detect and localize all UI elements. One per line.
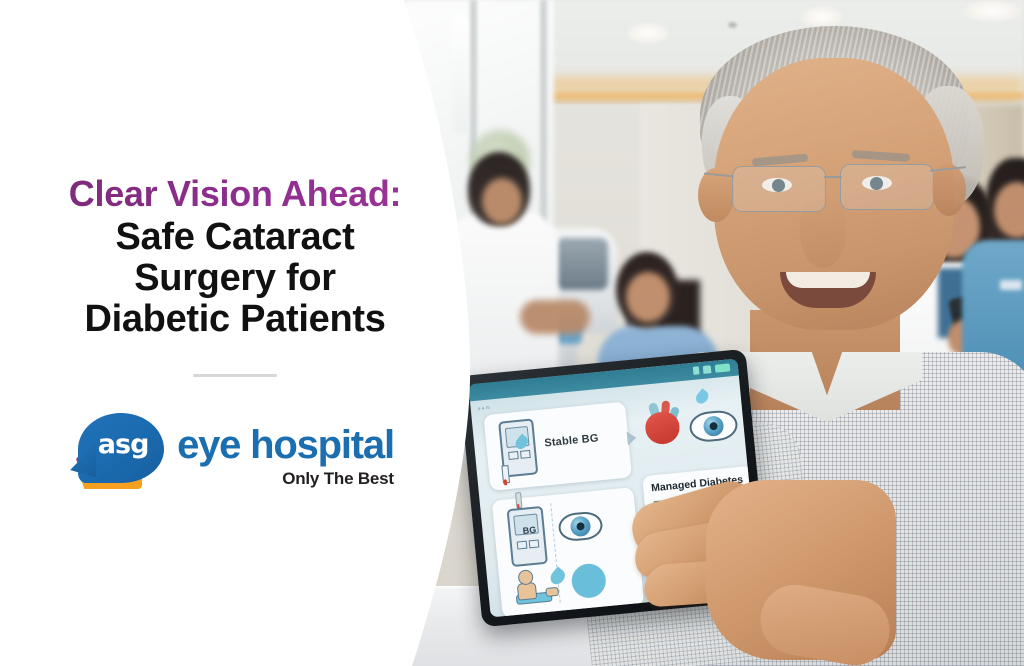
heart-icon [639, 400, 687, 450]
divider [193, 374, 277, 377]
logo-mark-text: asg [86, 429, 160, 460]
banner-root: a.a./b Stable BG [0, 0, 1024, 666]
glucometer-display [505, 426, 530, 448]
signal-icon [693, 366, 700, 375]
glucometer-button-right [529, 539, 540, 548]
patient-teeth [786, 272, 870, 288]
asg-eye-hospital-logo[interactable]: asg eye hospital Only The Best [76, 413, 394, 491]
tear-drop-icon [693, 388, 710, 406]
blood-sample-icon [504, 479, 508, 485]
text-content-area: Clear Vision Ahead: Safe Cataract Surger… [0, 0, 470, 666]
person-foot [545, 587, 559, 597]
page-title: Clear Vision Ahead: Safe Cataract Surger… [25, 175, 445, 341]
headline-line-3: Surgery for [25, 258, 445, 299]
eyeglass-lens-left [732, 166, 826, 212]
glucometer-button-left [517, 541, 528, 550]
eye-icon [557, 510, 603, 542]
background-doctor-face [482, 178, 522, 224]
glucometer-button-right [520, 450, 531, 459]
heart-body [644, 411, 681, 446]
logo-tagline: Only The Best [282, 469, 394, 489]
headline-line-4: Diabetic Patients [25, 299, 445, 340]
status-icons [693, 363, 731, 375]
patient-hand [610, 470, 910, 666]
background-doctor-arm [520, 300, 590, 334]
stable-bg-label: Stable BG [544, 432, 599, 449]
eyeglass-lens-right [840, 164, 934, 210]
address-text: a.a./b [477, 405, 490, 411]
logo-name: eye hospital [177, 425, 394, 465]
ophthalmic-machine-screen [556, 238, 608, 290]
eyeglass-bridge [824, 176, 842, 178]
teal-highlight-circle [570, 562, 607, 599]
eyeglasses-icon [728, 164, 954, 212]
headline-line-1: Clear Vision Ahead: [25, 175, 445, 214]
bg-value-label: BG [522, 525, 536, 536]
eye-icon [688, 409, 739, 443]
battery-icon [715, 363, 731, 372]
logo-mark: asg [76, 413, 168, 491]
glucometer-button-left [508, 451, 519, 460]
glucometer-icon: BG [507, 506, 548, 567]
logo-wordmark: eye hospital Only The Best [177, 425, 394, 491]
glucometer-display: BG [513, 513, 539, 535]
headline-line-2: Safe Cataract [25, 217, 445, 258]
blood-drop-icon [513, 434, 530, 452]
arrow-right-icon [627, 431, 637, 446]
wifi-icon [703, 365, 712, 374]
